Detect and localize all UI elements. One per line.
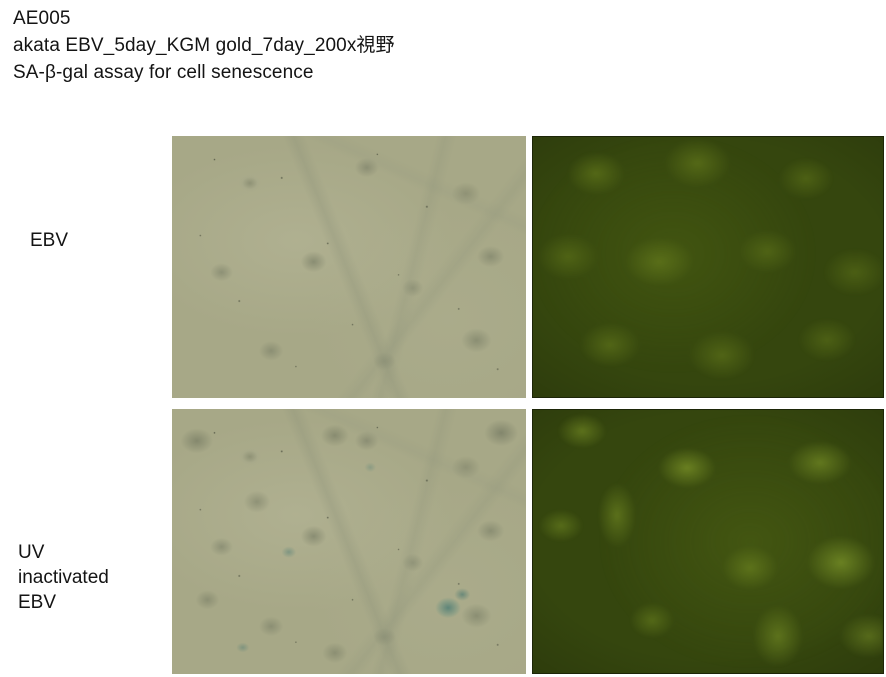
condition-line: akata EBV_5day_KGM gold_7day_200x視野 [13, 32, 633, 59]
micrograph-uv-inactivated-ebv-fluorescence [532, 409, 884, 674]
debris-specks [172, 409, 526, 674]
debris-specks [172, 136, 526, 398]
micrograph-grid [172, 136, 884, 674]
assay-line: SA-β-gal assay for cell senescence [13, 59, 633, 86]
vignette-overlay [533, 410, 883, 673]
vignette-overlay [533, 137, 883, 397]
sample-id-line: AE005 [13, 5, 633, 32]
micrograph-ebv-fluorescence [532, 136, 884, 398]
row-label-uv-inactivated-ebv: UV inactivated EBV [18, 540, 163, 615]
micrograph-ebv-phase-contrast [172, 136, 526, 398]
header-text-block: AE005 akata EBV_5day_KGM gold_7day_200x視… [13, 5, 633, 86]
micrograph-uv-inactivated-ebv-phase-contrast [172, 409, 526, 674]
row-label-ebv: EBV [30, 228, 160, 253]
